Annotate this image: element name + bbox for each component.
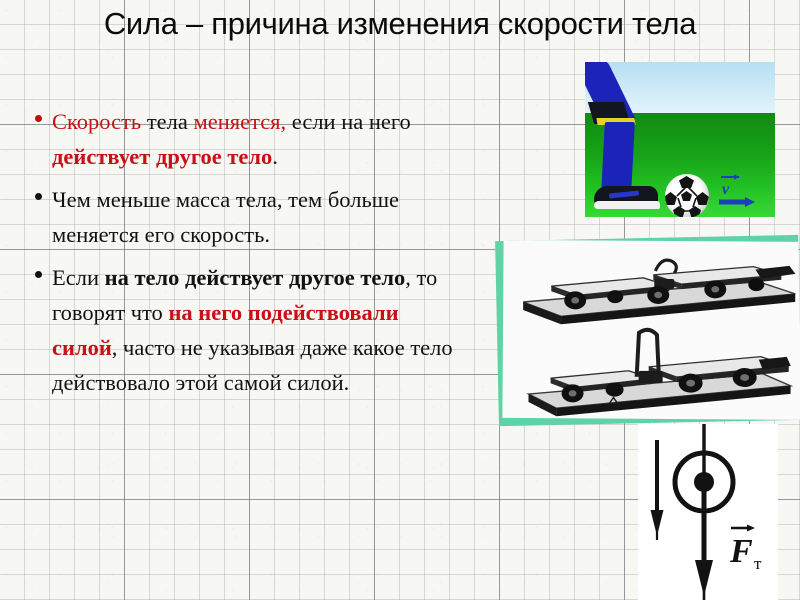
velocity-vector-label: v (722, 181, 730, 198)
velocity-vector-icon: v (717, 172, 763, 210)
bullet-segment: если на него (286, 109, 411, 134)
list-item: Если на тело действует другое тело, то г… (30, 260, 460, 400)
trolley-photo-inner (502, 240, 800, 420)
slide-canvas: Сила – причина изменения скорости тела (0, 0, 800, 600)
bullet-segment: тела (141, 109, 193, 134)
force-diagram-drawing: F т (638, 424, 778, 600)
bullet-segment: на тело действует другое тело (105, 265, 406, 290)
bullet-segment: , часто не указывая даже какое тело дейс… (52, 335, 453, 395)
bullet-marker-icon (35, 193, 42, 200)
trolley-carts-photo (495, 235, 800, 426)
list-item: Чем меньше масса тела, тем больше меняет… (30, 182, 460, 252)
bullet-segment: . (272, 144, 278, 169)
force-of-gravity-diagram: F т (638, 424, 778, 600)
trolley-carts-drawing (502, 240, 800, 420)
soccer-kick-illustration: v (585, 62, 775, 217)
page-title: Сила – причина изменения скорости тела (22, 4, 778, 44)
bullet-segment: Если (52, 265, 105, 290)
bullet-segment: Скорость (52, 109, 141, 134)
bullet-segment: действует другое тело (52, 144, 272, 169)
force-label: F (729, 533, 753, 570)
shoe-sole-shape (594, 201, 660, 209)
force-label-subscript: т (754, 554, 762, 573)
bullet-marker-icon (35, 115, 42, 122)
leg-shin-shape (601, 122, 635, 194)
list-item: Скорость тела меняется, если на него дей… (30, 104, 460, 174)
bullet-marker-icon (35, 271, 42, 278)
bullet-list: Скорость тела меняется, если на него дей… (30, 104, 460, 408)
bullet-segment: меняется, (193, 109, 286, 134)
soccer-ball-icon (665, 174, 709, 217)
bullet-segment: Чем меньше масса тела, тем больше меняет… (52, 187, 399, 247)
